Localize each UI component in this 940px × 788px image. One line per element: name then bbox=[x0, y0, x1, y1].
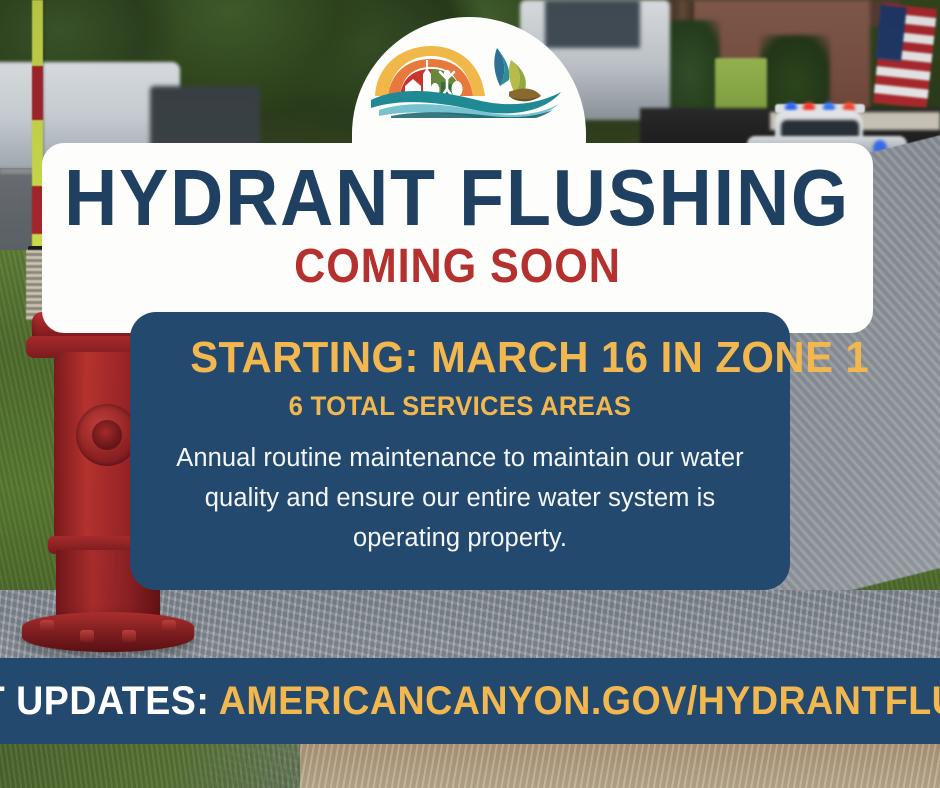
headline-card: HYDRANT FLUSHING COMING SOON bbox=[42, 143, 873, 333]
city-of-american-canyon-logo-icon bbox=[369, 42, 569, 118]
page-title: HYDRANT FLUSHING bbox=[65, 161, 851, 235]
service-areas-line: 6 TOTAL SERVICES AREAS bbox=[190, 391, 730, 422]
description-text: Annual routine maintenance to maintain o… bbox=[176, 438, 744, 559]
updates-label: LATEST UPDATES: bbox=[0, 679, 209, 723]
updates-banner: LATEST UPDATES:AMERICANCANYON.GOV/HYDRAN… bbox=[0, 658, 940, 744]
start-date-line: STARTING: MARCH 16 IN ZONE 1 bbox=[190, 336, 730, 381]
hydrant-flushing-poster: HYDRANT FLUSHING COMING SOON STARTING: M… bbox=[0, 0, 940, 788]
info-panel: STARTING: MARCH 16 IN ZONE 1 6 TOTAL SER… bbox=[130, 312, 790, 590]
city-logo bbox=[352, 40, 586, 120]
page-subtitle: COMING SOON bbox=[294, 243, 621, 291]
updates-url[interactable]: AMERICANCANYON.GOV/HYDRANTFLUSHING bbox=[219, 679, 940, 723]
updates-banner-text: LATEST UPDATES:AMERICANCANYON.GOV/HYDRAN… bbox=[0, 679, 940, 724]
